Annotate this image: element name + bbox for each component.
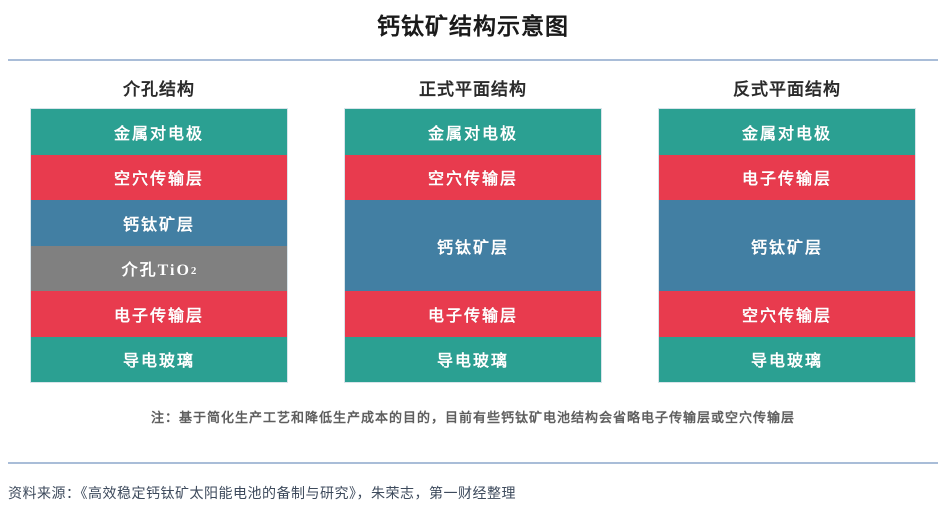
- structure-layer-label: 导电玻璃: [123, 347, 195, 371]
- structure-layer: 空穴传输层: [659, 291, 915, 337]
- structure-layer-label: 金属对电极: [428, 120, 518, 144]
- structure-layer: 钙钛矿层: [659, 200, 915, 291]
- structure-layer: 钙钛矿层: [345, 200, 601, 291]
- structure-layer-label: 介孔TiO: [122, 256, 191, 280]
- structure-layer: 金属对电极: [345, 109, 601, 155]
- structure-layer-label: 钙钛矿层: [437, 234, 509, 258]
- structure-layer-subscript: 2: [191, 265, 197, 277]
- structure-layer: 空穴传输层: [31, 155, 287, 201]
- structure-layer-label: 金属对电极: [742, 120, 832, 144]
- structure-layer: 电子传输层: [31, 291, 287, 337]
- structure-layer: 导电玻璃: [345, 337, 601, 383]
- structure-column: 正式平面结构金属对电极空穴传输层钙钛矿层电子传输层导电玻璃: [344, 78, 602, 383]
- structure-layer: 导电玻璃: [31, 337, 287, 383]
- structure-layer-label: 电子传输层: [114, 302, 204, 326]
- structure-column-header: 介孔结构: [30, 78, 288, 108]
- structure-layer-label: 钙钛矿层: [751, 234, 823, 258]
- structure-layer-label: 电子传输层: [742, 165, 832, 189]
- structure-column-header: 反式平面结构: [658, 78, 916, 108]
- structure-layer-label: 空穴传输层: [428, 165, 518, 189]
- structure-column: 介孔结构金属对电极空穴传输层钙钛矿层介孔TiO2电子传输层导电玻璃: [30, 78, 288, 383]
- structure-column-header: 正式平面结构: [344, 78, 602, 108]
- footnote: 注：基于简化生产工艺和降低生产成本的目的，目前有些钙钛矿电池结构会省略电子传输层…: [0, 408, 946, 428]
- structure-layer: 空穴传输层: [345, 155, 601, 201]
- structure-layer: 金属对电极: [659, 109, 915, 155]
- divider-bottom: [8, 462, 938, 464]
- structure-layer-label: 导电玻璃: [751, 347, 823, 371]
- perovskite-structure-diagram: 介孔结构金属对电极空穴传输层钙钛矿层介孔TiO2电子传输层导电玻璃正式平面结构金…: [0, 78, 946, 383]
- layer-stack: 金属对电极空穴传输层钙钛矿层电子传输层导电玻璃: [344, 108, 602, 383]
- layer-stack: 金属对电极空穴传输层钙钛矿层介孔TiO2电子传输层导电玻璃: [30, 108, 288, 383]
- source-note: 资料来源：《高效稳定钙钛矿太阳能电池的备制与研究》，朱荣志，第一财经整理: [8, 483, 516, 503]
- structure-layer-label: 钙钛矿层: [123, 211, 195, 235]
- structure-layer: 导电玻璃: [659, 337, 915, 383]
- structure-layer-label: 空穴传输层: [114, 165, 204, 189]
- structure-layer: 电子传输层: [345, 291, 601, 337]
- page-title: 钙钛矿结构示意图: [0, 12, 946, 42]
- structure-column: 反式平面结构金属对电极电子传输层钙钛矿层空穴传输层导电玻璃: [658, 78, 916, 383]
- structure-layer-label: 空穴传输层: [742, 302, 832, 326]
- structure-layer-label: 金属对电极: [114, 120, 204, 144]
- structure-layer: 电子传输层: [659, 155, 915, 201]
- structure-layer: 介孔TiO2: [31, 246, 287, 292]
- structure-layer-label: 导电玻璃: [437, 347, 509, 371]
- divider-top: [8, 59, 938, 61]
- chart-page: 钙钛矿结构示意图 介孔结构金属对电极空穴传输层钙钛矿层介孔TiO2电子传输层导电…: [0, 0, 946, 526]
- structure-layer-label: 电子传输层: [428, 302, 518, 326]
- structure-layer: 金属对电极: [31, 109, 287, 155]
- page-title-text: 钙钛矿结构示意图: [0, 12, 946, 42]
- layer-stack: 金属对电极电子传输层钙钛矿层空穴传输层导电玻璃: [658, 108, 916, 383]
- structure-layer: 钙钛矿层: [31, 200, 287, 246]
